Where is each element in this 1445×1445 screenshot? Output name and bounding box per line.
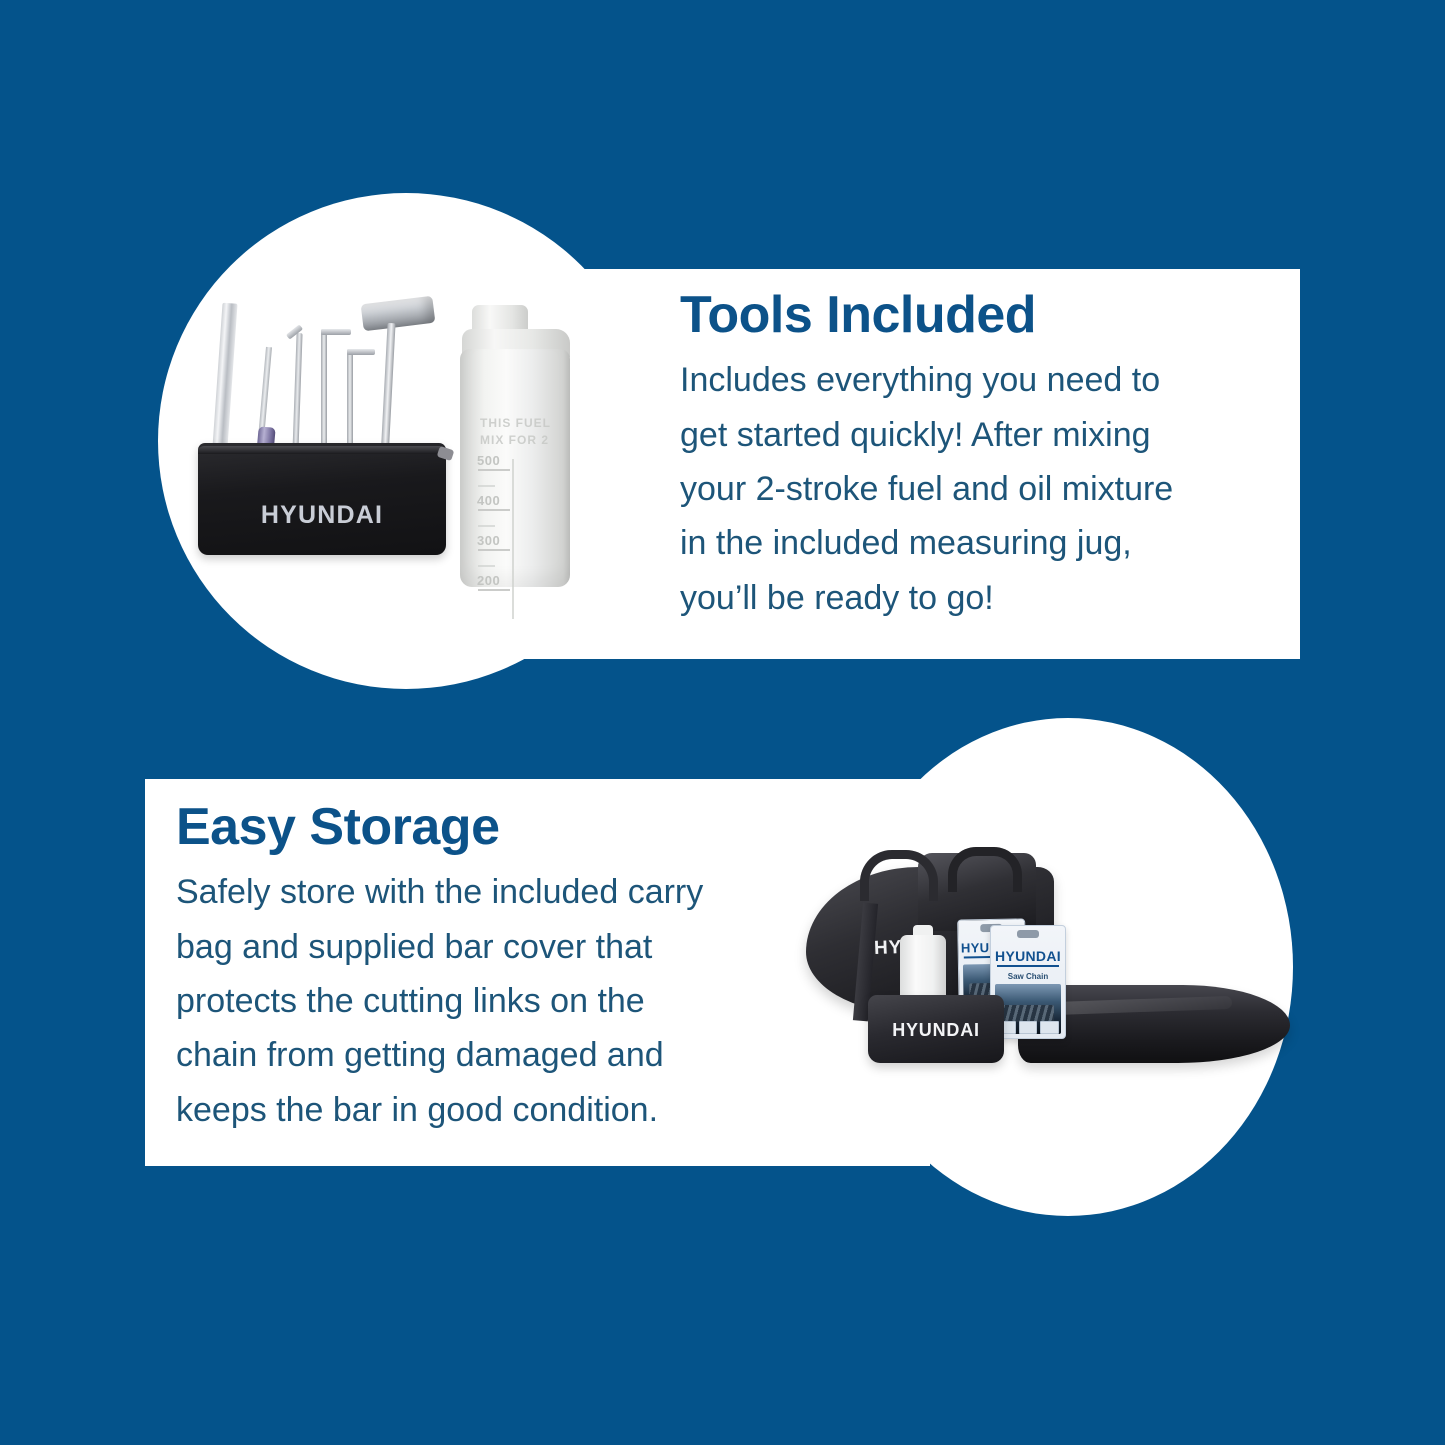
jug-scale-label: 400 [477, 493, 500, 508]
easy-storage-image: HYUNDAI HYUNDAI HYUNDAI Saw Chain [800, 845, 1290, 1135]
tools-included-text-block: Tools Included Includes everything you n… [680, 288, 1260, 625]
body-line: bag and supplied bar cover that [176, 920, 776, 974]
tools-included-body: Includes everything you need to get star… [680, 353, 1260, 625]
jug-scale-tick [478, 549, 510, 551]
jug-scale-tick [478, 589, 510, 591]
hex-key-large-short-arm [321, 329, 351, 335]
measuring-jug-body: THIS FUEL MIX FOR 2 STROKE 500 400 300 2… [460, 349, 570, 587]
zipper-pull-icon [437, 446, 455, 461]
easy-storage-heading: Easy Storage [176, 800, 776, 855]
bar-cover-highlight [1052, 996, 1232, 1015]
accessory-pack-rule [997, 965, 1059, 967]
hex-key-small-short-arm [347, 349, 375, 355]
easy-storage-body: Safely store with the included carry bag… [176, 865, 776, 1137]
body-line: Safely store with the included carry [176, 865, 776, 919]
jug-scale-tick-minor [478, 485, 495, 487]
accessory-pack-brand: HYUNDAI [991, 948, 1065, 964]
measuring-jug: THIS FUEL MIX FOR 2 STROKE 500 400 300 2… [456, 305, 574, 587]
body-line: you’ll be ready to go! [680, 571, 1260, 625]
infographic-canvas: HYUNDAI THIS FUEL MIX FOR 2 STROKE 500 4… [0, 0, 1445, 1445]
jug-scale-label: 500 [477, 453, 500, 468]
saw-chain-graphic [1002, 1005, 1054, 1022]
body-line: get started quickly! After mixing [680, 408, 1260, 462]
accessory-pack-spec-bar [997, 1021, 1059, 1034]
accessory-pack-product-name: Saw Chain [991, 972, 1065, 981]
spec-cell [1040, 1021, 1059, 1034]
spark-plug-wrench-socket [361, 296, 436, 332]
bar-cover-pouch: HYUNDAI [868, 995, 1004, 1063]
pack-hang-hole-icon [1017, 930, 1039, 938]
body-line: chain from getting damaged and [176, 1028, 776, 1082]
jug-scale-label: 300 [477, 533, 500, 548]
measuring-jug-scale-rule [512, 459, 514, 619]
body-line: keeps the bar in good condition. [176, 1083, 776, 1137]
carry-bag-handle-right [948, 847, 1022, 892]
spec-cell [1019, 1021, 1038, 1034]
body-line: in the included measuring jug, [680, 516, 1260, 570]
tools-included-heading: Tools Included [680, 288, 1260, 343]
tool-pouch-zipper [198, 446, 446, 454]
body-line: protects the cutting links on the [176, 974, 776, 1028]
screwdriver-shaft [258, 347, 272, 439]
easy-storage-text-block: Easy Storage Safely store with the inclu… [176, 800, 776, 1137]
jug-scale-tick [478, 469, 510, 471]
body-line: Includes everything you need to [680, 353, 1260, 407]
jug-scale-label: 200 [477, 573, 500, 588]
bar-cover-pouch-brand-label: HYUNDAI [868, 1020, 1004, 1041]
tools-included-image: HYUNDAI THIS FUEL MIX FOR 2 STROKE 500 4… [190, 285, 590, 595]
jug-scale-tick-minor [478, 525, 495, 527]
tool-pouch: HYUNDAI [198, 443, 446, 555]
jug-scale-tick-minor [478, 565, 495, 567]
measuring-jug-embossed-text: THIS FUEL MIX FOR 2 STROKE [480, 415, 566, 449]
tool-pouch-brand-label: HYUNDAI [198, 501, 446, 530]
carry-bag-handle-left [860, 850, 938, 901]
jug-scale-tick [478, 509, 510, 511]
body-line: your 2-stroke fuel and oil mixture [680, 462, 1260, 516]
